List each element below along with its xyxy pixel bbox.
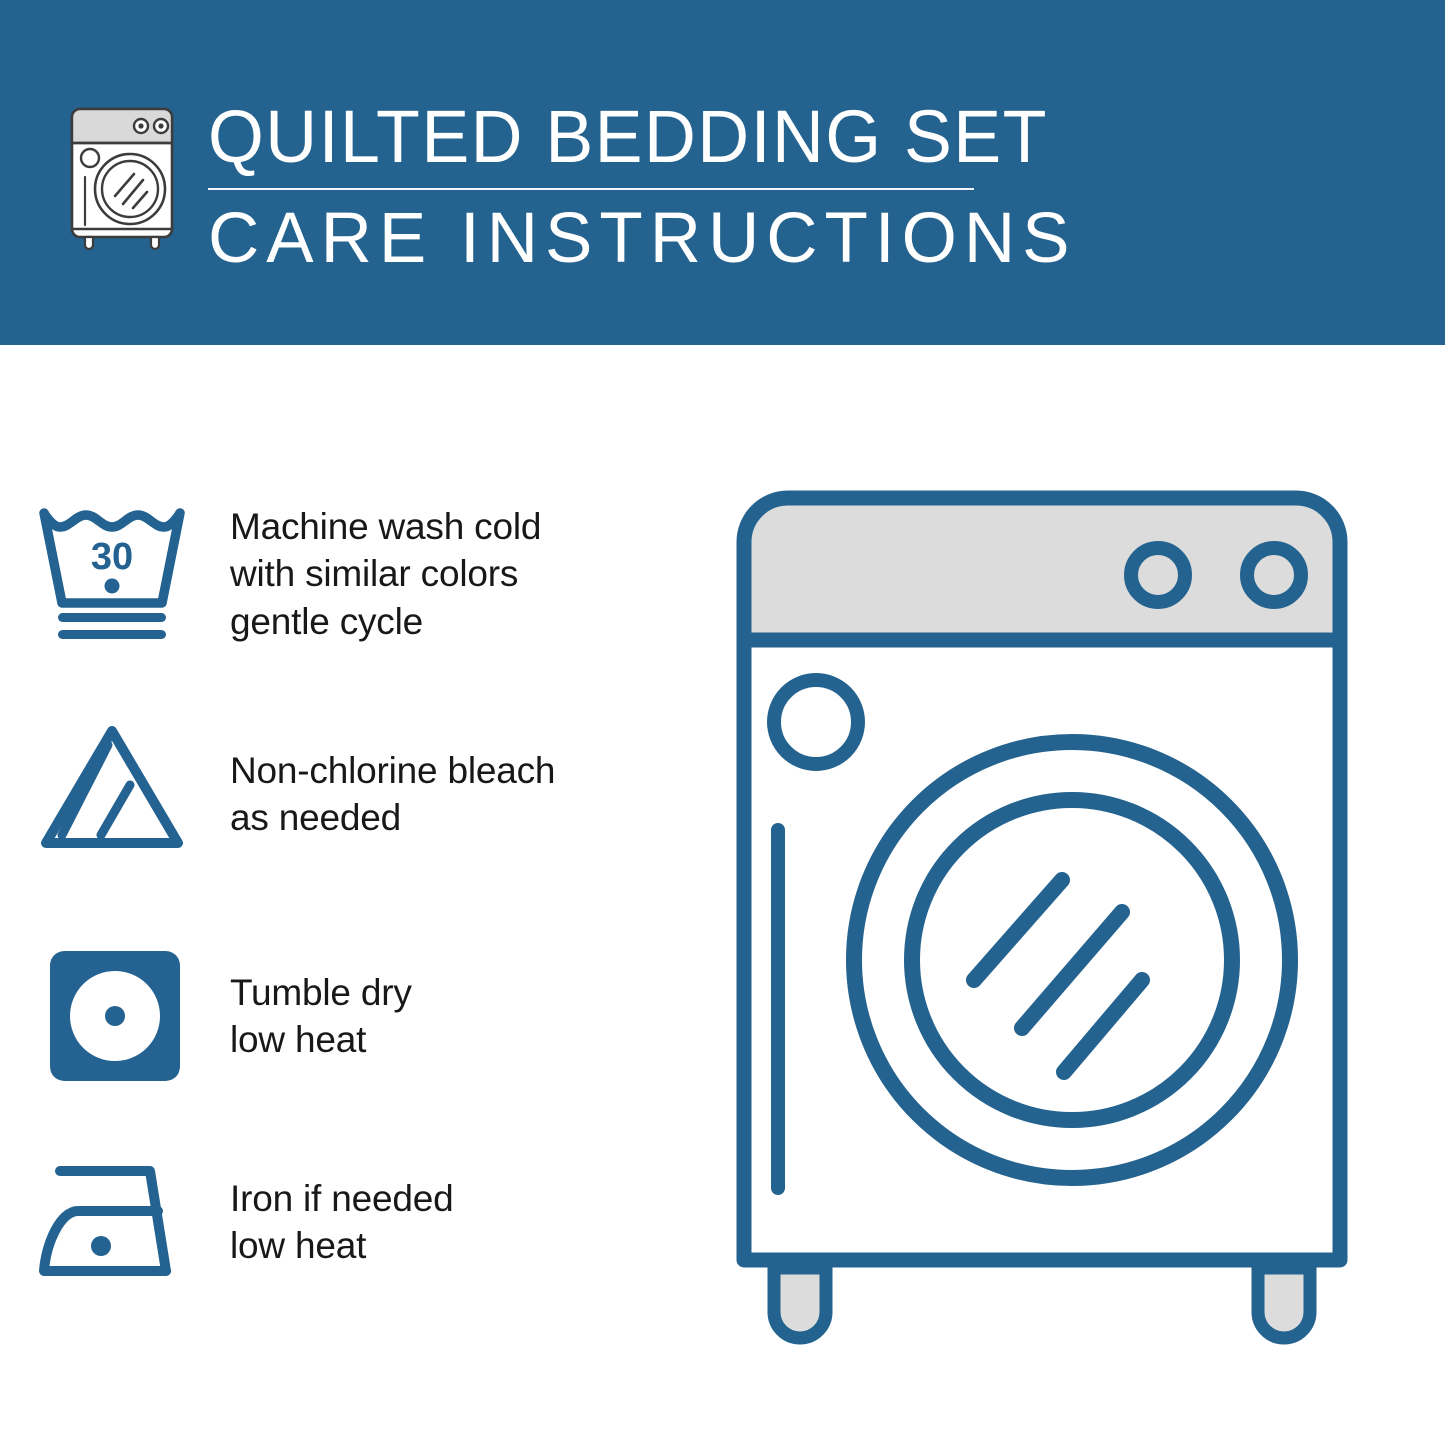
washing-machine-icon — [63, 101, 181, 251]
care-row-label: Iron if needed low heat — [230, 1145, 453, 1270]
page-subtitle: CARE INSTRUCTIONS — [208, 202, 998, 277]
header-text-block: QUILTED BEDDING SET CARE INSTRUCTIONS — [208, 100, 998, 277]
care-row: Non-chlorine bleach as needed — [0, 715, 700, 869]
wash-temperature-label: 30 — [91, 536, 133, 578]
care-row: Tumble dry low heat — [0, 937, 700, 1091]
tumble-dry-low-icon — [0, 937, 230, 1091]
wash-tub-30-icon: 30 — [0, 493, 230, 647]
iron-low-heat-icon — [0, 1145, 230, 1299]
leg-left — [774, 1268, 826, 1338]
page-title: QUILTED BEDDING SET — [208, 100, 974, 174]
care-row: Iron if needed low heat — [0, 1145, 700, 1299]
care-row-label: Non-chlorine bleach as needed — [230, 715, 555, 842]
drum-with-diagonal-stripes — [974, 880, 1142, 1072]
front-load-washing-machine-illustration — [722, 480, 1362, 1360]
header-banner: QUILTED BEDDING SET CARE INSTRUCTIONS — [0, 0, 1445, 345]
care-row: 30 Machine wash cold with similar colors… — [0, 493, 700, 647]
header-divider — [208, 188, 974, 190]
care-symbol-list: 30 Machine wash cold with similar colors… — [0, 345, 700, 1445]
bleach-triangle-icon — [0, 715, 230, 869]
leg-right — [1258, 1268, 1310, 1338]
detergent-dispenser-circle — [774, 680, 858, 764]
care-row-label: Tumble dry low heat — [230, 937, 412, 1064]
care-instructions-page: QUILTED BEDDING SET CARE INSTRUCTIONS 30 — [0, 0, 1445, 1445]
care-row-label: Machine wash cold with similar colors ge… — [230, 493, 541, 645]
